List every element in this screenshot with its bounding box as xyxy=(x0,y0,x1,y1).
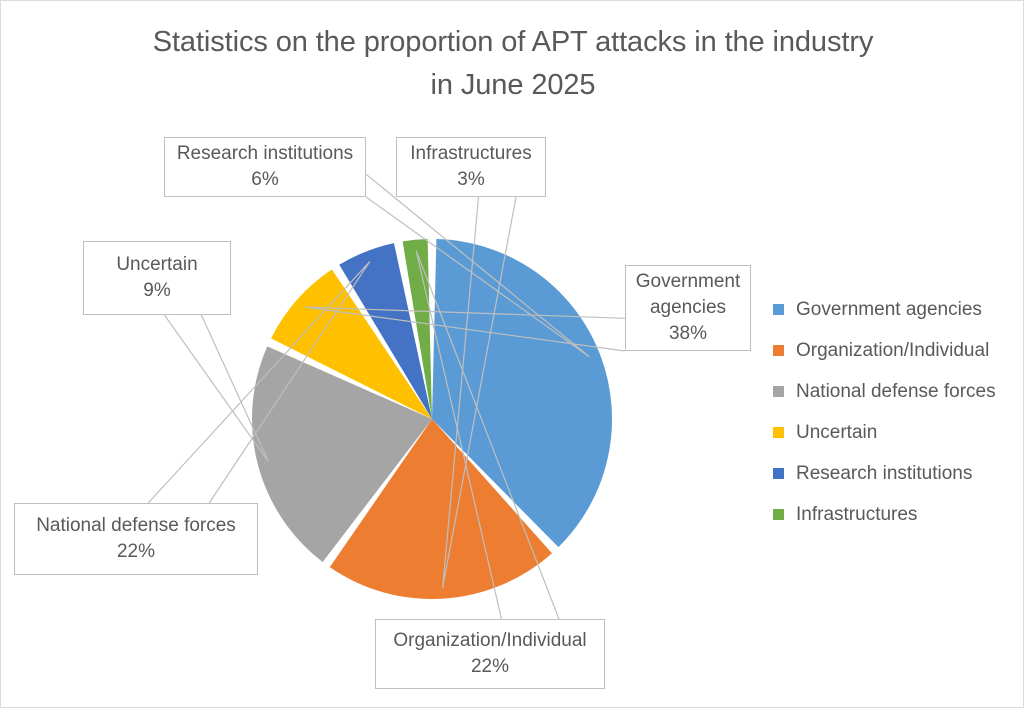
legend-item[interactable]: Uncertain xyxy=(773,412,1013,453)
legend-color-swatch-icon xyxy=(773,304,784,315)
callout-percentage-value: 6% xyxy=(251,167,278,193)
callout-category-label: Organization/Individual xyxy=(393,628,586,654)
callout-percentage-value: 38% xyxy=(669,321,707,347)
callout-percentage-value: 22% xyxy=(471,654,509,680)
legend-color-swatch-icon xyxy=(773,427,784,438)
callout-category-label: Uncertain xyxy=(116,252,197,278)
callout-category-label: National defense forces xyxy=(36,513,236,539)
callout-percentage-value: 3% xyxy=(457,167,484,193)
callout-leader-line xyxy=(164,315,268,461)
callout-category-label: Research institutions xyxy=(177,141,353,167)
callout-percentage-value: 9% xyxy=(143,278,170,304)
legend-item-label: National defense forces xyxy=(796,381,996,403)
data-label-callout[interactable]: National defense forces22% xyxy=(14,503,258,575)
legend-color-swatch-icon xyxy=(773,509,784,520)
legend-item[interactable]: National defense forces xyxy=(773,371,1013,412)
data-label-callout[interactable]: Government agencies38% xyxy=(625,265,751,351)
legend-item-label: Research institutions xyxy=(796,463,972,485)
data-label-callout[interactable]: Research institutions6% xyxy=(164,137,366,197)
legend-item-label: Organization/Individual xyxy=(796,340,989,362)
legend-item[interactable]: Government agencies xyxy=(773,289,1013,330)
callout-percentage-value: 22% xyxy=(117,539,155,565)
legend-item[interactable]: Infrastructures xyxy=(773,494,1013,535)
legend-color-swatch-icon xyxy=(773,468,784,479)
data-label-callout[interactable]: Infrastructures3% xyxy=(396,137,546,197)
legend-item-label: Government agencies xyxy=(796,299,982,321)
legend-item-label: Infrastructures xyxy=(796,504,917,526)
legend-item-label: Uncertain xyxy=(796,422,877,444)
data-label-callout[interactable]: Uncertain9% xyxy=(83,241,231,315)
legend-color-swatch-icon xyxy=(773,345,784,356)
chart-legend: Government agenciesOrganization/Individu… xyxy=(773,289,1013,535)
callout-category-label: Infrastructures xyxy=(410,141,531,167)
pie-chart-page: Statistics on the proportion of APT atta… xyxy=(0,0,1024,708)
data-label-callout[interactable]: Organization/Individual22% xyxy=(375,619,605,689)
legend-color-swatch-icon xyxy=(773,386,784,397)
legend-item[interactable]: Organization/Individual xyxy=(773,330,1013,371)
callout-category-label: Government agencies xyxy=(636,269,741,321)
legend-item[interactable]: Research institutions xyxy=(773,453,1013,494)
